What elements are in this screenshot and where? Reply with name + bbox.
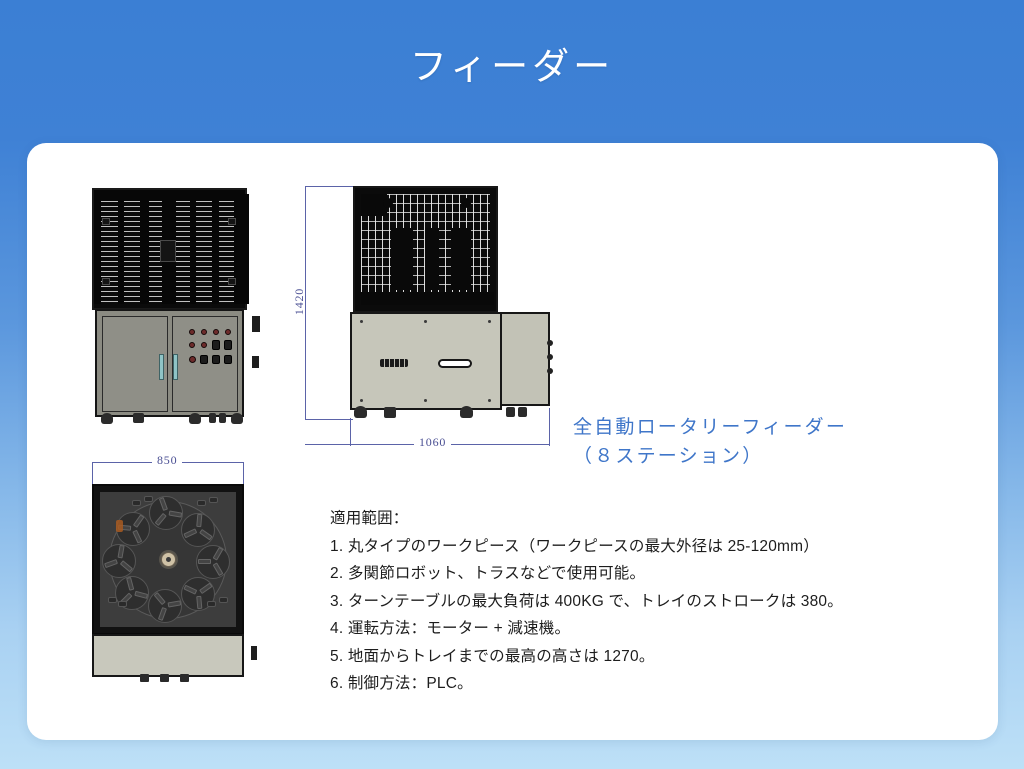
panel-button [213,329,219,335]
base-foot [160,674,169,682]
panel-button [201,329,207,335]
product-headline: 全自動ロータリーフィーダー （８ステーション） [573,413,973,471]
dim-ext-left [92,462,93,486]
caster-foot [518,407,527,417]
panel-button [189,356,196,363]
door-handle-right [173,354,178,380]
center-drive-gear [161,552,176,567]
specification-list: 適用範囲： 1. 丸タイプのワークピース（ワークピースの最大外径は 25-120… [330,505,970,698]
panel-button [189,329,195,335]
caster-wheel [460,406,473,418]
plan-side-connector [251,646,257,660]
front-cabinet-body [95,309,244,417]
panel-switch [200,355,208,364]
panel-switch [224,355,232,364]
side-cabinet-body [350,312,502,410]
base-foot [180,674,189,682]
caster-wheel [189,413,201,424]
dimension-label-width: 1060 [414,435,451,450]
page-title: フィーダー [0,44,1024,90]
spec-item-5: 5. 地面からトレイまでの最高の高さは 1270。 [330,643,970,671]
plan-base-panel [92,634,244,677]
dim-ext-bottom [305,419,353,420]
station-2 [181,513,215,547]
side-elevation-drawing: 1420 1060 [350,186,535,444]
dimension-label-plan-width: 850 [152,453,182,468]
station-3 [196,545,230,579]
caster-foot [219,413,226,423]
corner-clamp [209,497,218,503]
station-5 [148,589,182,623]
spec-item-2: 2. 多関節ロボット、トラスなどで使用可能。 [330,560,970,588]
front-elevation-drawing [92,188,252,440]
dim-ext-left [350,418,351,446]
base-foot [140,674,149,682]
side-junction-box [252,316,260,332]
side-electrical-enclosure [500,312,550,406]
caster-foot [384,407,396,418]
door-handle-left [159,354,164,380]
headline-line-1: 全自動ロータリーフィーダー [573,413,973,442]
panel-button [225,329,231,335]
corner-clamp [108,597,117,603]
panel-switch [212,340,220,350]
side-vent-grille [380,359,408,367]
content-card: 1420 1060 850 [27,143,998,740]
corner-clamp [144,496,153,502]
side-cage-section [353,186,498,313]
panel-button [201,342,207,348]
dim-ext-top [305,186,353,187]
spec-item-3: 3. ターンテーブルの最大負荷は 400KG で、トレイのストロークは 380。 [330,588,970,616]
station-1 [149,496,183,530]
caster-foot [209,413,216,423]
panel-switch [212,355,220,364]
spec-heading: 適用範囲： [330,505,970,533]
rotary-table-frame [92,484,244,635]
corner-clamp [219,597,228,603]
corner-clamp [197,500,206,506]
spec-item-6: 6. 制御方法：PLC。 [330,670,970,698]
side-connector [252,356,259,368]
front-cage-section [92,188,247,310]
caster-wheel [101,413,113,424]
plan-view-drawing: 850 [92,484,252,681]
caster-foot [133,413,144,423]
tray-handle-center [160,240,176,262]
dimension-label-height: 1420 [292,288,307,315]
caster-wheel [354,406,367,418]
caster-foot [506,407,515,417]
caster-wheel [231,413,243,424]
corner-clamp [207,601,216,607]
side-access-slot [438,359,472,368]
panel-switch [224,340,232,350]
indicator-marker [116,520,123,532]
corner-clamp [132,500,141,506]
spec-item-4: 4. 運転方法：モーター + 減速機。 [330,615,970,643]
slide-canvas: フィーダー [0,0,1024,769]
spec-item-1: 1. 丸タイプのワークピース（ワークピースの最大外径は 25-120mm） [330,533,970,561]
table-top-plate [100,492,236,627]
panel-button [189,342,195,348]
headline-line-2: （８ステーション） [573,442,973,471]
dim-ext-right [243,462,244,486]
station-7 [102,544,136,578]
corner-clamp [118,601,127,607]
dim-ext-right [549,408,550,446]
